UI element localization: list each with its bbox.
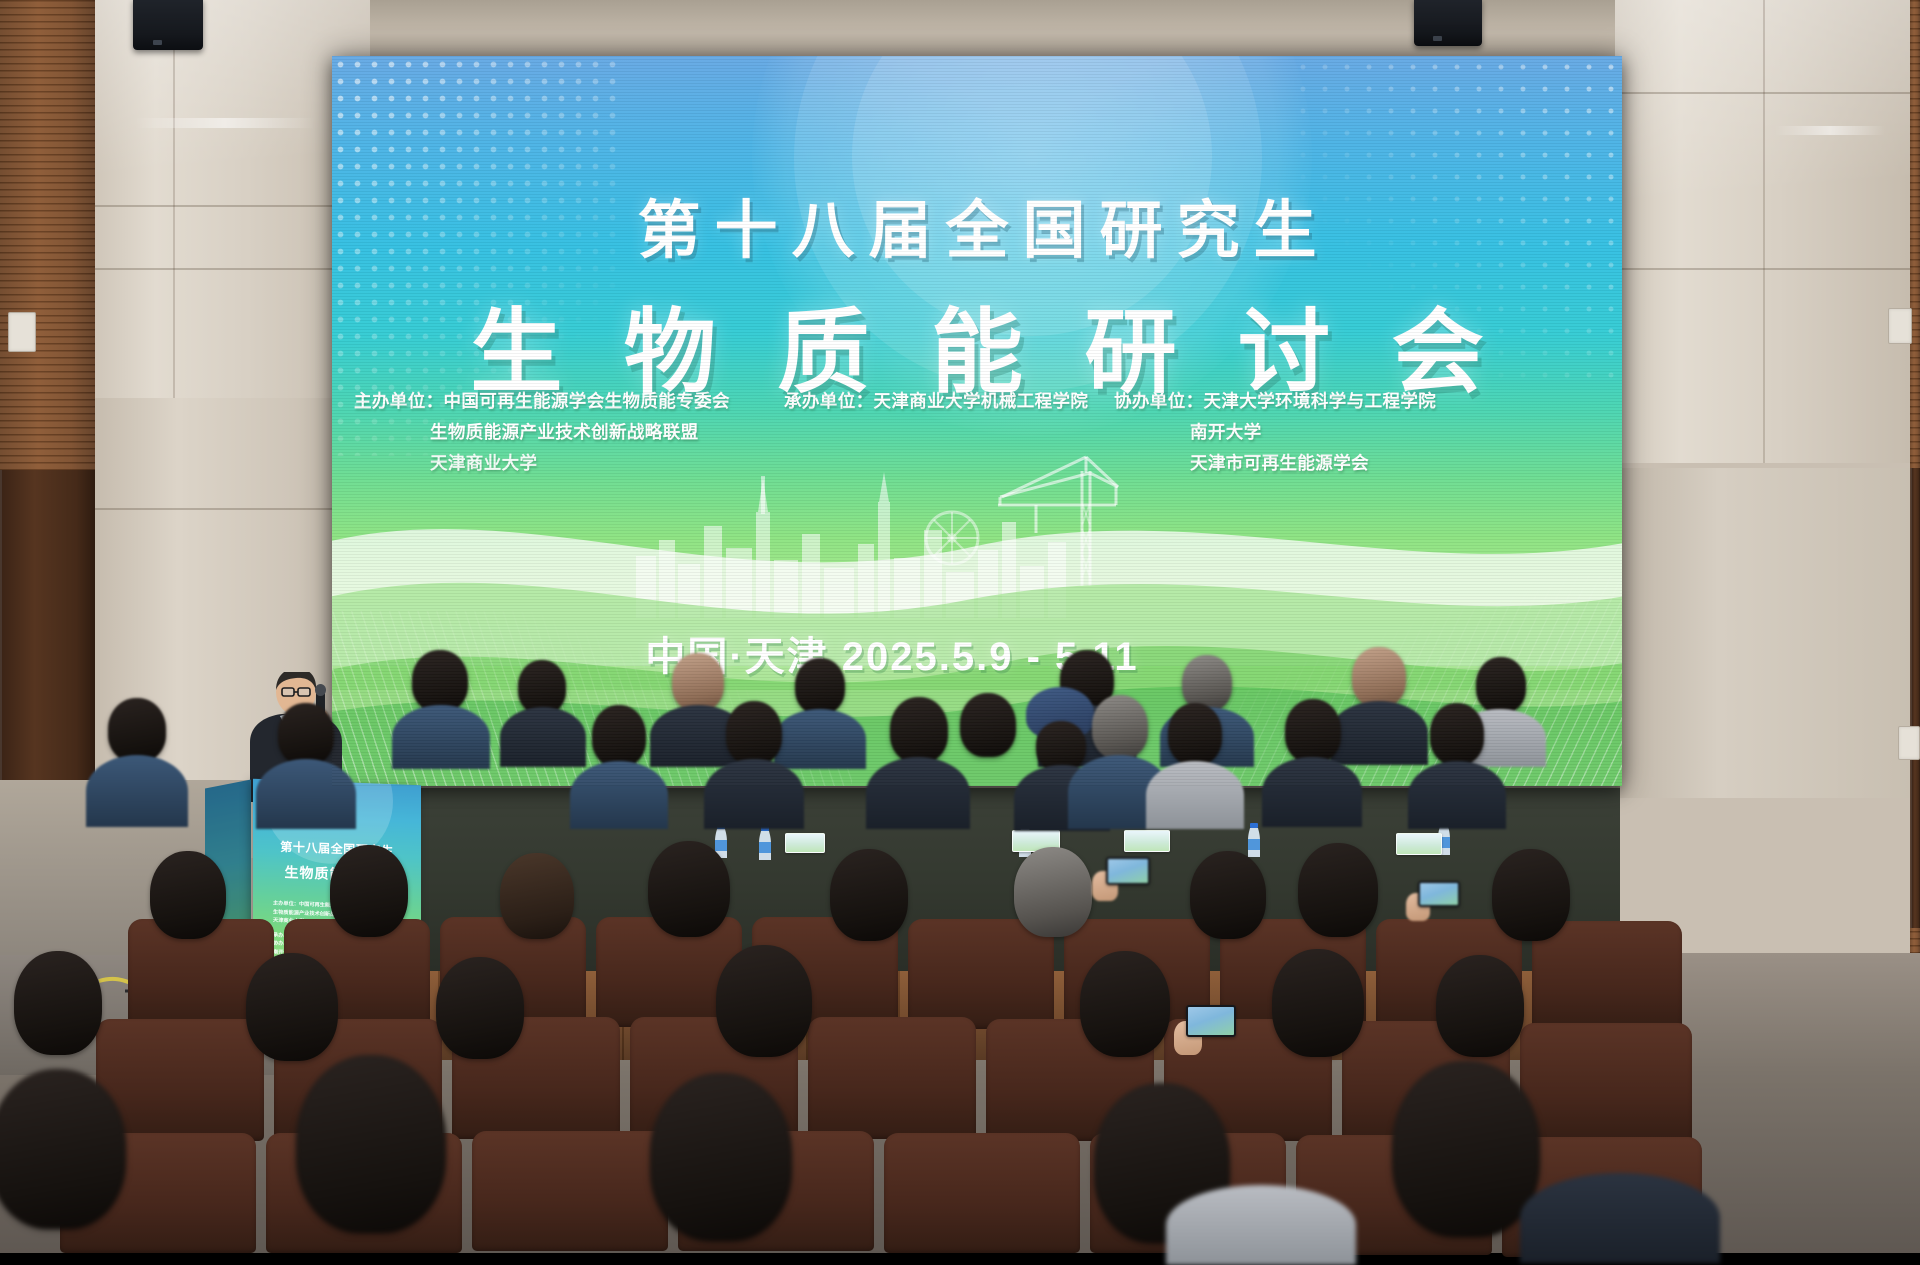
- wall-outlet-plate-right: [1888, 308, 1912, 344]
- smartphone-recording-2[interactable]: [1418, 881, 1460, 907]
- attendee-head: [436, 957, 524, 1059]
- coorganizer-line-1: 协办单位：天津大学环境科学与工程学院: [1114, 386, 1436, 417]
- attendee-shoulders: [1520, 1173, 1720, 1263]
- attendee-head: [960, 693, 1016, 757]
- auditorium-chair[interactable]: [884, 1133, 1080, 1253]
- attendee-head: [246, 953, 338, 1061]
- attendee-shoulders: [1330, 701, 1428, 765]
- host-label: 主办单位：: [354, 391, 444, 411]
- host-item-1: 中国可再生能源学会生物质能专委会: [444, 391, 730, 411]
- attendee-shoulders: [256, 759, 356, 829]
- undertaker-item-1: 天津商业大学机械工程学院: [874, 391, 1089, 411]
- attendee-head: [1014, 847, 1092, 937]
- ceiling-speaker-left: [133, 0, 203, 50]
- attendee-head: [1430, 703, 1484, 765]
- attendee-shoulders: [570, 761, 668, 829]
- ceiling-speaker-right: [1414, 0, 1482, 46]
- attendee-head: [1392, 1061, 1540, 1237]
- attendee-shoulders: [1408, 761, 1506, 829]
- attendee-shoulders: [1262, 757, 1362, 827]
- host-line-1: 主办单位：中国可再生能源学会生物质能专委会: [354, 386, 784, 417]
- attendee-shoulders: [86, 755, 188, 827]
- smartphone-recording-3[interactable]: [1186, 1005, 1236, 1037]
- attendee-head: [672, 653, 724, 711]
- auditorium-chair[interactable]: [1520, 1023, 1692, 1145]
- attendee-head: [518, 660, 566, 714]
- attendee-head: [1436, 955, 1524, 1057]
- attendee-head: [296, 1055, 446, 1233]
- attendee-head: [650, 1073, 792, 1241]
- coorganizer-item-1: 天津大学环境科学与工程学院: [1204, 391, 1437, 411]
- attendee-head: [1080, 951, 1170, 1057]
- attendee-head: [1190, 851, 1266, 939]
- attendee-head: [108, 698, 166, 762]
- conference-hall-scene: 第十八届全国研究生 生 物 质 能 研 讨 会 主办单位：中国可再生能源学会生物…: [0, 0, 1920, 1253]
- attendee-head: [412, 650, 468, 712]
- attendee-head: [14, 951, 102, 1055]
- attendee-head: [0, 1069, 126, 1229]
- attendee-head: [500, 853, 574, 939]
- attendee-shoulders: [500, 707, 586, 767]
- attendee-head: [1092, 695, 1148, 759]
- attendee-head: [150, 851, 226, 939]
- attendee-head: [795, 658, 845, 714]
- attendee-shoulders: [1166, 1185, 1356, 1265]
- auditorium-chair[interactable]: [808, 1017, 976, 1139]
- attendee-head: [890, 697, 948, 763]
- attendee-head: [1168, 703, 1222, 765]
- attendee-head: [726, 701, 782, 765]
- wall-outlet-plate-right2: [1898, 726, 1920, 760]
- auditorium-chair[interactable]: [1532, 921, 1682, 1031]
- marble-wall-right-lower: [1615, 468, 1910, 798]
- wall-outlet-plate-left: [8, 312, 36, 352]
- undertaker-line-1: 承办单位：天津商业大学机械工程学院: [784, 386, 1114, 417]
- audience-seating-area: [0, 833, 1920, 1253]
- attendee-shoulders: [1146, 761, 1244, 829]
- attendee-head: [830, 849, 908, 941]
- attendee-head: [648, 841, 730, 937]
- auditorium-chair[interactable]: [472, 1131, 668, 1251]
- screen-title-line-1: 第十八届全国研究生: [332, 180, 1622, 271]
- attendee-head: [1476, 657, 1526, 713]
- attendee-head: [1036, 721, 1086, 771]
- attendee-shoulders: [866, 757, 970, 829]
- attendee-shoulders: [774, 709, 866, 769]
- undertaker-label: 承办单位：: [784, 391, 874, 411]
- attendee-head: [716, 945, 812, 1057]
- attendee-head: [592, 705, 646, 767]
- attendee-head: [278, 703, 334, 765]
- attendee-head: [330, 845, 408, 937]
- attendee-head: [1352, 647, 1406, 707]
- auditorium-chair[interactable]: [908, 919, 1054, 1029]
- attendee-head: [1492, 849, 1570, 941]
- attendee-head: [1285, 699, 1341, 763]
- coorganizer-label: 协办单位：: [1114, 391, 1204, 411]
- attendee-shoulders: [392, 705, 490, 769]
- attendee-head: [1298, 843, 1378, 937]
- marble-wall-left: [95, 0, 370, 398]
- marble-wall-right: [1615, 0, 1910, 463]
- smartphone-recording-1[interactable]: [1106, 857, 1150, 885]
- attendee-head: [1272, 949, 1364, 1057]
- attendee-shoulders: [704, 759, 804, 829]
